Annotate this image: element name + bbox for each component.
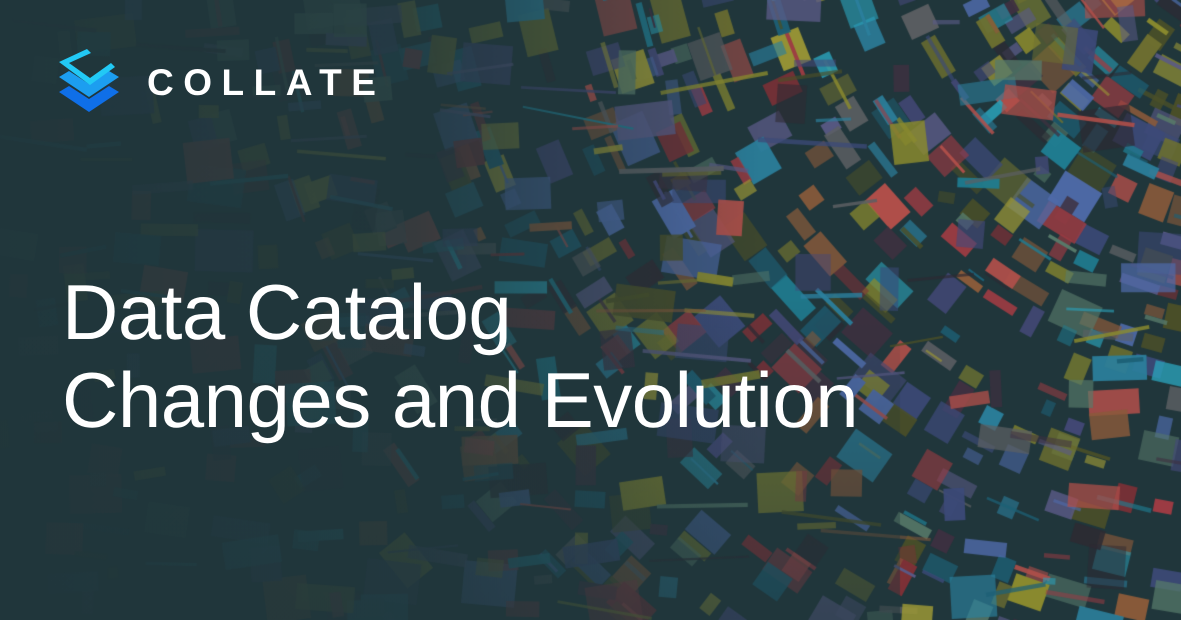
promo-banner: COLLATE Data Catalog Changes and Evoluti…: [0, 0, 1181, 620]
collate-layers-icon: [57, 48, 121, 114]
page-title: Data Catalog Changes and Evolution: [62, 268, 858, 444]
banner-content: COLLATE Data Catalog Changes and Evoluti…: [0, 0, 1181, 620]
brand-lockup: COLLATE: [57, 48, 385, 114]
page-title-line-1: Data Catalog: [62, 268, 858, 356]
page-title-line-2: Changes and Evolution: [62, 356, 858, 444]
brand-wordmark: COLLATE: [147, 62, 385, 101]
